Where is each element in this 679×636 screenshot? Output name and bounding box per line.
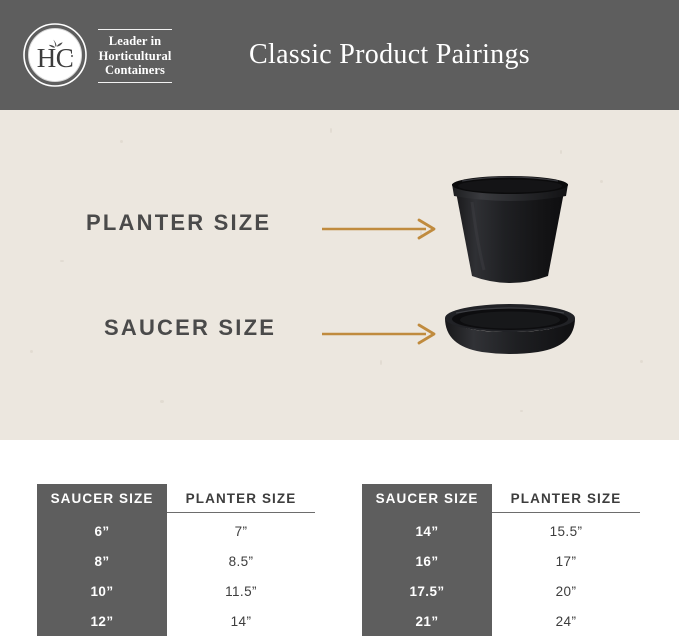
cell-saucer-size: 16” bbox=[362, 546, 492, 576]
table-header-row: SAUCER SIZE PLANTER SIZE bbox=[362, 484, 640, 513]
cell-saucer-size: 8” bbox=[37, 546, 167, 576]
planter-size-label: PLANTER SIZE bbox=[86, 210, 271, 236]
column-header-planter-size: PLANTER SIZE bbox=[492, 484, 640, 513]
page-header: HC Leader in Horticultural Containers Cl… bbox=[0, 0, 679, 110]
cell-saucer-size: 10” bbox=[37, 576, 167, 606]
cell-saucer-size: 21” bbox=[362, 606, 492, 636]
cell-planter-size: 7” bbox=[167, 516, 315, 546]
table-row: 17.5” 20” bbox=[362, 576, 640, 606]
size-table-large: SAUCER SIZE PLANTER SIZE 14” 15.5” 16” 1… bbox=[362, 484, 640, 636]
saucer-product-image bbox=[442, 302, 578, 364]
table-row: 10” 11.5” bbox=[37, 576, 315, 606]
cell-saucer-size: 14” bbox=[362, 516, 492, 546]
cell-planter-size: 20” bbox=[492, 576, 640, 606]
saucer-size-label: SAUCER SIZE bbox=[104, 315, 276, 341]
page-title: Classic Product Pairings bbox=[0, 38, 679, 72]
tagline-rule-top bbox=[98, 29, 172, 30]
column-header-saucer-size: SAUCER SIZE bbox=[37, 484, 167, 513]
planter-product-image bbox=[448, 172, 572, 294]
saucer-arrow-right-icon bbox=[322, 323, 440, 345]
table-header-row: SAUCER SIZE PLANTER SIZE bbox=[37, 484, 315, 513]
table-row: 21” 24” bbox=[362, 606, 640, 636]
table-row: 16” 17” bbox=[362, 546, 640, 576]
cell-planter-size: 14” bbox=[167, 606, 315, 636]
cell-saucer-size: 6” bbox=[37, 516, 167, 546]
cell-saucer-size: 17.5” bbox=[362, 576, 492, 606]
table-row: 12” 14” bbox=[37, 606, 315, 636]
cell-planter-size: 15.5” bbox=[492, 516, 640, 546]
cell-planter-size: 24” bbox=[492, 606, 640, 636]
cell-planter-size: 17” bbox=[492, 546, 640, 576]
column-header-planter-size: PLANTER SIZE bbox=[167, 484, 315, 513]
table-row: 6” 7” bbox=[37, 516, 315, 546]
tagline-rule-bottom bbox=[98, 82, 172, 83]
column-header-saucer-size: SAUCER SIZE bbox=[362, 484, 492, 513]
cell-planter-size: 8.5” bbox=[167, 546, 315, 576]
planter-arrow-right-icon bbox=[322, 218, 440, 240]
table-row: 14” 15.5” bbox=[362, 516, 640, 546]
cell-saucer-size: 12” bbox=[37, 606, 167, 636]
hero-section: PLANTER SIZE SAUCER SIZE bbox=[0, 110, 679, 440]
hero-background bbox=[0, 110, 679, 440]
size-table-small: SAUCER SIZE PLANTER SIZE 6” 7” 8” 8.5” 1… bbox=[37, 484, 315, 636]
cell-planter-size: 11.5” bbox=[167, 576, 315, 606]
table-row: 8” 8.5” bbox=[37, 546, 315, 576]
size-tables: SAUCER SIZE PLANTER SIZE 6” 7” 8” 8.5” 1… bbox=[0, 484, 679, 636]
